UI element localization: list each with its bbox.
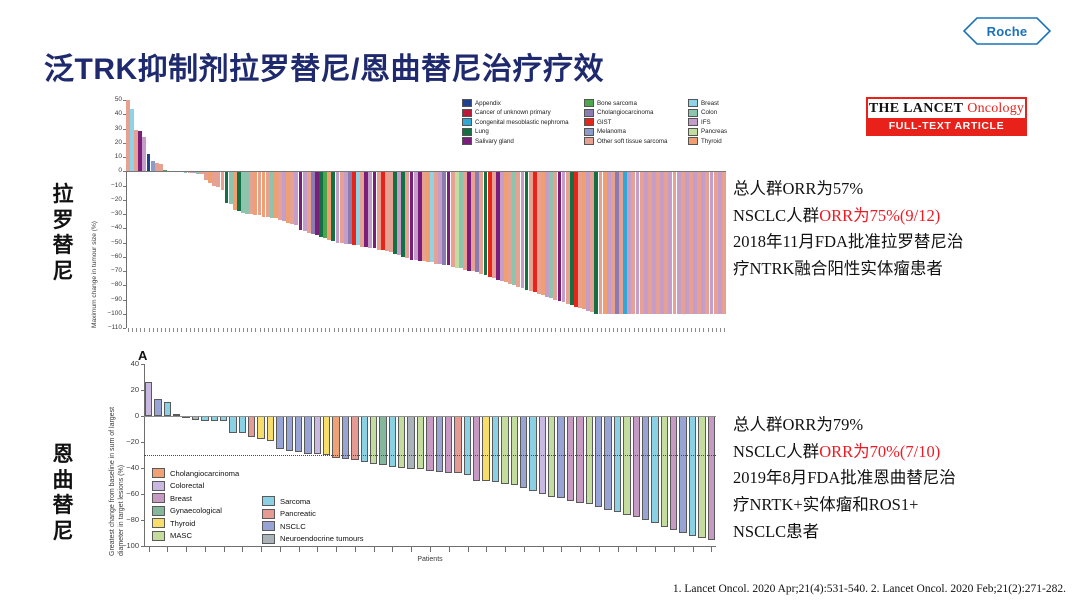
larotrectinib-x-tick [177,328,178,332]
larotrectinib-y-tick: 0 [92,167,122,174]
larotrectinib-x-tick [288,328,289,332]
larotrectinib-y-tick: −110 [92,324,122,331]
legend-item: Gynaecological [152,506,239,516]
legend-label: Pancreas [701,128,727,135]
legend-item: IFS [688,118,760,126]
entrectinib-bar [417,416,424,469]
larotrectinib-x-tick [543,328,544,332]
legend-item: Appendix [462,99,580,107]
larotrectinib-x-tick [662,328,663,332]
entrectinib-x-tick [524,547,525,552]
larotrectinib-x-tick [190,328,191,332]
entrectinib-x-tick [561,547,562,552]
larotrectinib-x-tick [391,328,392,332]
entrectinib-bar [323,416,330,455]
legend-item: Pancreas [688,128,760,136]
entrectinib-bar [679,416,686,533]
legend-swatch [262,496,275,506]
entrectinib-bar [698,416,705,538]
entrectinib-x-tick [149,547,150,552]
entrectinib-bar [548,416,555,497]
entrectinib-x-tick [580,547,581,552]
larotrectinib-x-tick [144,328,145,332]
larotrectinib-x-tick [161,328,162,332]
larotrectinib-x-tick [260,328,261,332]
larotrectinib-x-tick [687,328,688,332]
entrectinib-bar [164,402,171,416]
larotrectinib-x-tick [432,328,433,332]
legend-item: Colon [688,109,760,117]
entrectinib-bar [651,416,658,523]
legend-label: MASC [170,531,192,540]
larotrectinib-x-tick [198,328,199,332]
larotrectinib-x-tick [465,328,466,332]
entrectinib-x-tick [411,547,412,552]
legend-swatch [152,506,165,516]
larotrectinib-x-tick [173,328,174,332]
entrectinib-bar [154,399,161,416]
legend-item: Cholangiocarcinoma [584,109,684,117]
entrectinib-bar [445,416,452,473]
larotrectinib-x-tick [477,328,478,332]
larotrectinib-x-tick [527,328,528,332]
entrectinib-approval-line3: NSCLC患者 [733,519,1053,546]
legend-swatch [584,137,594,145]
legend-item: Sarcoma [262,496,364,506]
legend-swatch [462,118,472,126]
larotrectinib-y-tick: −50 [92,239,122,246]
larotrectinib-x-tick [481,328,482,332]
entrectinib-x-tick [449,547,450,552]
entrectinib-bar [436,416,443,472]
larotrectinib-x-tick [399,328,400,332]
legend-label: Colorectal [170,481,204,490]
entrectinib-y-tick: 0 [110,411,139,420]
entrectinib-bar [642,416,649,520]
legend-swatch [688,109,698,117]
larotrectinib-x-tick [235,328,236,332]
footer-citation: 1. Lancet Oncol. 2020 Apr;21(4):531-540.… [0,583,1080,595]
larotrectinib-x-tick [457,328,458,332]
larotrectinib-x-tick [280,328,281,332]
legend-swatch [152,481,165,491]
legend-label: Thyroid [701,138,722,145]
entrectinib-x-tick [280,547,281,552]
legend-label: Cancer of unknown primary [475,109,551,116]
larotrectinib-x-tick [625,328,626,332]
larotrectinib-x-tick [408,328,409,332]
larotrectinib-x-tick [547,328,548,332]
legend-label: Breast [701,100,719,107]
larotrectinib-x-tick [666,328,667,332]
larotrectinib-x-tick [239,328,240,332]
larotrectinib-x-tick [646,328,647,332]
legend-item: MASC [152,531,239,541]
larotrectinib-x-tick [638,328,639,332]
legend-swatch [152,531,165,541]
entrectinib-y-tick: −20 [110,437,139,446]
entrectinib-bar [689,416,696,536]
entrectinib-y-tick: −80 [110,515,139,524]
legend-swatch [688,118,698,126]
larotrectinib-x-tick [202,328,203,332]
larotrectinib-x-tick [436,328,437,332]
larotrectinib-x-tick [617,328,618,332]
larotrectinib-x-tick [416,328,417,332]
legend-swatch [262,534,275,544]
entrectinib-y-tick: 40 [110,359,139,368]
legend-label: Salivary gland [475,138,514,145]
larotrectinib-x-tick [716,328,717,332]
larotrectinib-y-tick: −90 [92,296,122,303]
entrectinib-x-tick [674,547,675,552]
larotrectinib-x-tick [379,328,380,332]
larotrectinib-x-tick [510,328,511,332]
larotrectinib-x-tick [588,328,589,332]
larotrectinib-zero-line [126,171,726,172]
entrectinib-bar [557,416,564,498]
larotrectinib-x-tick [371,328,372,332]
larotrectinib-x-tick [494,328,495,332]
larotrectinib-x-tick [506,328,507,332]
larotrectinib-x-tick [140,328,141,332]
entrectinib-bar [614,416,621,512]
entrectinib-legend-column-1: CholangiocarcinomaColorectalBreastGynaec… [152,468,239,544]
legend-item: Breast [688,99,760,107]
legend-swatch [584,99,594,107]
entrectinib-x-axis-ticks [144,547,716,552]
larotrectinib-x-tick [206,328,207,332]
entrectinib-x-tick [468,547,469,552]
entrectinib-bar [623,416,630,515]
legend-item: Other soft tissue sarcoma [584,137,684,145]
larotrectinib-x-tick [346,328,347,332]
larotrectinib-y-tick: 50 [92,96,122,103]
larotrectinib-x-tick [605,328,606,332]
legend-item: NSCLC [262,521,364,531]
entrectinib-bar [633,416,640,517]
larotrectinib-y-tick: −30 [92,210,122,217]
larotrectinib-y-tick: −80 [92,281,122,288]
entrectinib-bar [379,416,386,465]
legend-swatch [152,493,165,503]
legend-label: Lung [475,128,489,135]
entrectinib-bar [286,416,293,451]
legend-swatch [462,99,472,107]
larotrectinib-x-tick [375,328,376,332]
larotrectinib-x-tick [699,328,700,332]
legend-label: IFS [701,119,711,126]
entrectinib-x-axis-title: Patients [144,556,716,563]
larotrectinib-x-tick [695,328,696,332]
larotrectinib-x-tick [338,328,339,332]
entrectinib-zero-line [144,416,716,417]
larotrectinib-x-tick [181,328,182,332]
larotrectinib-x-tick [592,328,593,332]
larotrectinib-x-tick [724,328,725,332]
entrectinib-approval-line2: 疗NRTK+实体瘤和ROS1+ [733,492,1053,519]
entrectinib-x-tick [299,547,300,552]
entrectinib-summary-text: 总人群ORR为79% NSCLC人群ORR为70%(7/10) 2019年8月F… [733,412,1053,546]
larotrectinib-x-tick [531,328,532,332]
entrectinib-bar [595,416,602,507]
legend-label: Breast [170,494,192,503]
larotrectinib-approval-line2: 疗NTRK融合阳性实体瘤患者 [733,256,1053,283]
legend-swatch [688,128,698,136]
entrectinib-bar [464,416,471,475]
entrectinib-orr-nsclc-prefix: NSCLC人群 [733,442,819,461]
larotrectinib-x-tick [284,328,285,332]
entrectinib-bar [482,416,489,481]
legend-item: Melanoma [584,128,684,136]
larotrectinib-y-tick: −60 [92,253,122,260]
legend-label: Melanoma [597,128,626,135]
legend-item: Thyroid [688,137,760,145]
legend-swatch [462,128,472,136]
larotrectinib-orr-nsclc-prefix: NSCLC人群 [733,206,819,225]
larotrectinib-x-tick [218,328,219,332]
entrectinib-bar [145,382,152,416]
larotrectinib-x-tick [169,328,170,332]
larotrectinib-x-tick [502,328,503,332]
larotrectinib-x-tick [650,328,651,332]
larotrectinib-x-tick [560,328,561,332]
larotrectinib-x-tick [601,328,602,332]
entrectinib-x-tick [655,547,656,552]
row-label-entrectinib: 恩曲替尼 [46,442,80,544]
larotrectinib-x-tick [469,328,470,332]
entrectinib-bar [248,416,255,437]
legend-swatch [462,137,472,145]
legend-swatch [152,468,165,478]
legend-swatch [584,109,594,117]
larotrectinib-x-tick [264,328,265,332]
larotrectinib-y-tick: −70 [92,267,122,274]
larotrectinib-x-tick [321,328,322,332]
larotrectinib-x-tick [523,328,524,332]
entrectinib-x-tick [636,547,637,552]
legend-label: Cholangiocarcinoma [597,109,653,116]
larotrectinib-x-tick [691,328,692,332]
lancet-oncology-badge[interactable]: THE LANCET Oncology FULL-TEXT ARTICLE [866,97,1027,136]
larotrectinib-x-tick [712,328,713,332]
larotrectinib-legend: AppendixBone sarcomaBreastCancer of unkn… [462,99,760,145]
larotrectinib-x-tick [403,328,404,332]
entrectinib-x-tick [186,547,187,552]
larotrectinib-x-tick [297,328,298,332]
larotrectinib-x-tick [214,328,215,332]
legend-label: Other soft tissue sarcoma [597,138,668,145]
entrectinib-bar [529,416,536,491]
larotrectinib-y-tick: 30 [92,125,122,132]
larotrectinib-x-tick [342,328,343,332]
legend-label: Cholangiocarcinoma [170,469,239,478]
legend-swatch [584,118,594,126]
legend-item: Neuroendocrine tumours [262,534,364,544]
lancet-wordmark: THE LANCET [869,101,963,117]
entrectinib-orr-nsclc: NSCLC人群ORR为70%(7/10) [733,439,1053,466]
larotrectinib-x-tick [679,328,680,332]
entrectinib-x-tick [392,547,393,552]
larotrectinib-x-tick [301,328,302,332]
larotrectinib-approval-line1: 2018年11月FDA批准拉罗替尼治 [733,229,1053,256]
larotrectinib-x-tick [358,328,359,332]
entrectinib-bar [586,416,593,504]
entrectinib-orr-overall: 总人群ORR为79% [733,412,1053,439]
entrectinib-bar [670,416,677,530]
larotrectinib-x-tick [461,328,462,332]
larotrectinib-x-tick [223,328,224,332]
panel-letter-a: A [138,348,147,363]
entrectinib-y-axis-title: Greatest change from baseline in sum of … [108,351,126,556]
legend-label: Neuroendocrine tumours [280,534,364,543]
entrectinib-bar [239,416,246,433]
legend-item: Cholangiocarcinoma [152,468,239,478]
legend-label: Thyroid [170,519,195,528]
larotrectinib-x-tick [642,328,643,332]
larotrectinib-x-tick [243,328,244,332]
larotrectinib-y-tick: 10 [92,153,122,160]
larotrectinib-x-tick [576,328,577,332]
entrectinib-approval-line1: 2019年8月FDA批准恩曲替尼治 [733,465,1053,492]
larotrectinib-x-tick [350,328,351,332]
entrectinib-x-tick [224,547,225,552]
larotrectinib-x-tick [609,328,610,332]
roche-logo: Roche [963,17,1051,45]
entrectinib-y-tick: 20 [110,385,139,394]
larotrectinib-x-tick [157,328,158,332]
entrectinib-x-tick [261,547,262,552]
legend-item: Breast [152,493,239,503]
larotrectinib-x-tick [572,328,573,332]
row-label-larotrectinib: 拉罗替尼 [46,182,80,284]
legend-item: Congenital mesoblastic nephroma [462,118,580,126]
entrectinib-bar [267,416,274,441]
larotrectinib-y-tick: −100 [92,310,122,317]
entrectinib-bar [454,416,461,473]
larotrectinib-x-tick [424,328,425,332]
entrectinib-x-tick [430,547,431,552]
larotrectinib-x-tick [420,328,421,332]
legend-item: Thyroid [152,518,239,528]
oncology-wordmark: Oncology [967,101,1024,117]
larotrectinib-x-tick [564,328,565,332]
larotrectinib-x-tick [247,328,248,332]
entrectinib-bar [304,416,311,454]
larotrectinib-x-axis-ticks [126,328,726,332]
larotrectinib-orr-nsclc: NSCLC人群ORR为75%(9/12) [733,203,1053,230]
entrectinib-x-tick [711,547,712,552]
larotrectinib-y-tick: −40 [92,224,122,231]
larotrectinib-x-tick [708,328,709,332]
larotrectinib-x-tick [272,328,273,332]
legend-item: Salivary gland [462,137,580,145]
larotrectinib-x-tick [153,328,154,332]
legend-label: Appendix [475,100,501,107]
entrectinib-bar [398,416,405,468]
larotrectinib-x-tick [720,328,721,332]
entrectinib-x-tick [543,547,544,552]
larotrectinib-x-tick [128,328,129,332]
larotrectinib-x-tick [444,328,445,332]
larotrectinib-x-tick [325,328,326,332]
entrectinib-bar [567,416,574,501]
larotrectinib-x-tick [292,328,293,332]
legend-label: Bone sarcoma [597,100,637,107]
larotrectinib-x-tick [551,328,552,332]
entrectinib-x-tick [317,547,318,552]
larotrectinib-x-tick [675,328,676,332]
entrectinib-x-tick [374,547,375,552]
larotrectinib-x-tick [194,328,195,332]
legend-swatch [152,518,165,528]
larotrectinib-summary-text: 总人群ORR为57% NSCLC人群ORR为75%(9/12) 2018年11月… [733,176,1053,283]
roche-logo-text: Roche [963,17,1051,45]
larotrectinib-y-tick: −20 [92,196,122,203]
larotrectinib-x-tick [412,328,413,332]
entrectinib-x-tick [205,547,206,552]
larotrectinib-bar [722,171,726,314]
entrectinib-response-threshold-line [144,455,716,456]
larotrectinib-x-tick [703,328,704,332]
legend-swatch [584,128,594,136]
entrectinib-bar [257,416,264,439]
entrectinib-bar [389,416,396,467]
larotrectinib-x-tick [334,328,335,332]
larotrectinib-x-tick [514,328,515,332]
larotrectinib-y-tick: 40 [92,110,122,117]
larotrectinib-x-tick [490,328,491,332]
larotrectinib-y-tick: 20 [92,139,122,146]
larotrectinib-x-tick [539,328,540,332]
larotrectinib-x-tick [634,328,635,332]
entrectinib-bar [604,416,611,510]
legend-item: Cancer of unknown primary [462,109,580,117]
larotrectinib-x-tick [231,328,232,332]
legend-label: Pancreatic [280,509,316,518]
larotrectinib-x-tick [597,328,598,332]
entrectinib-waterfall-chart: A Greatest change from baseline in sum o… [110,350,730,590]
entrectinib-x-tick [336,547,337,552]
entrectinib-y-tick: −40 [110,463,139,472]
entrectinib-bar [576,416,583,503]
legend-swatch [688,99,698,107]
entrectinib-x-tick [599,547,600,552]
larotrectinib-x-tick [305,328,306,332]
larotrectinib-y-tick: −10 [92,182,122,189]
entrectinib-bar [314,416,321,454]
larotrectinib-x-tick [440,328,441,332]
entrectinib-x-tick [618,547,619,552]
page-title: 泛TRK抑制剂拉罗替尼/恩曲替尼治疗疗效 [44,44,604,88]
entrectinib-bar [520,416,527,488]
lancet-badge-top: THE LANCET Oncology [868,99,1025,118]
larotrectinib-x-tick [366,328,367,332]
legend-item: Pancreatic [262,509,364,519]
larotrectinib-x-tick [210,328,211,332]
larotrectinib-x-tick [518,328,519,332]
entrectinib-y-tick: −100 [110,541,139,550]
larotrectinib-x-tick [329,328,330,332]
larotrectinib-x-tick [317,328,318,332]
entrectinib-bar [708,416,715,540]
larotrectinib-x-tick [568,328,569,332]
entrectinib-legend-column-2: SarcomaPancreaticNSCLCNeuroendocrine tum… [262,496,364,546]
larotrectinib-x-tick [535,328,536,332]
legend-label: Congenital mesoblastic nephroma [475,119,569,126]
legend-swatch [462,109,472,117]
larotrectinib-x-tick [387,328,388,332]
